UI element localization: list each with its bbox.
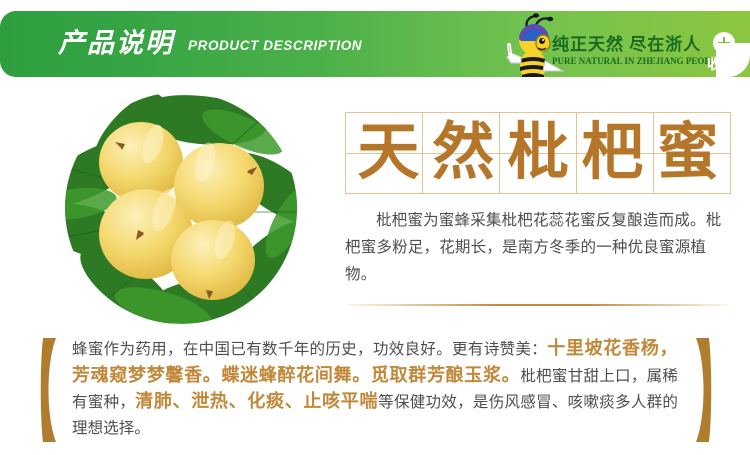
loquat-fruit-photo <box>33 92 329 324</box>
product-title-char: 蜜 <box>650 113 725 193</box>
favorite-button[interactable]: 收藏 <box>702 32 746 73</box>
product-description: 枇杷蜜为蜜蜂采集枇杷花蕊花蜜反复酿造而成。枇杷蜜多粉足，花期长，是南方冬季的一种… <box>345 207 725 288</box>
right-brace-icon <box>696 338 712 442</box>
brand-slogan-cn: 纯正天然 尽在浙人 <box>552 35 700 55</box>
plus-circle-icon <box>713 32 735 54</box>
product-title-char: 杷 <box>575 113 650 193</box>
page-header-banner: 产品说明 PRODUCT DESCRIPTION <box>0 11 750 77</box>
quote-block: 蜂蜜作为药用，在中国已有数千年的历史，功效良好。更有诗赞美：十里坡花香杨，芳魂窥… <box>40 334 712 446</box>
section-divider <box>347 304 729 306</box>
quote-text: 蜂蜜作为药用，在中国已有数千年的历史，功效良好。更有诗赞美：十里坡花香杨，芳魂窥… <box>72 336 678 441</box>
product-title-block: 天 然 枇 杷 蜜 <box>345 112 731 194</box>
page-title: 产品说明 <box>58 24 174 62</box>
product-title-char: 然 <box>426 113 501 193</box>
page-title-english: PRODUCT DESCRIPTION <box>188 38 362 53</box>
left-brace-icon <box>40 338 56 442</box>
brand-slogan-en: PURE NATURAL IN ZHEJIANG PEOPLE <box>552 55 700 67</box>
product-title-char: 天 <box>351 113 426 193</box>
quote-segment-highlight: 清肺、泄热、化痰、止咳平喘 <box>135 391 378 411</box>
brand-slogan: 纯正天然 尽在浙人 PURE NATURAL IN ZHEJIANG PEOPL… <box>552 35 700 67</box>
favorite-button-label: 收藏 <box>702 56 746 73</box>
product-title: 天 然 枇 杷 蜜 <box>345 112 731 194</box>
quote-segment: 蜂蜜作为药用，在中国已有数千年的历史，功效良好。更有诗赞美： <box>72 341 547 358</box>
product-title-char: 枇 <box>501 113 576 193</box>
